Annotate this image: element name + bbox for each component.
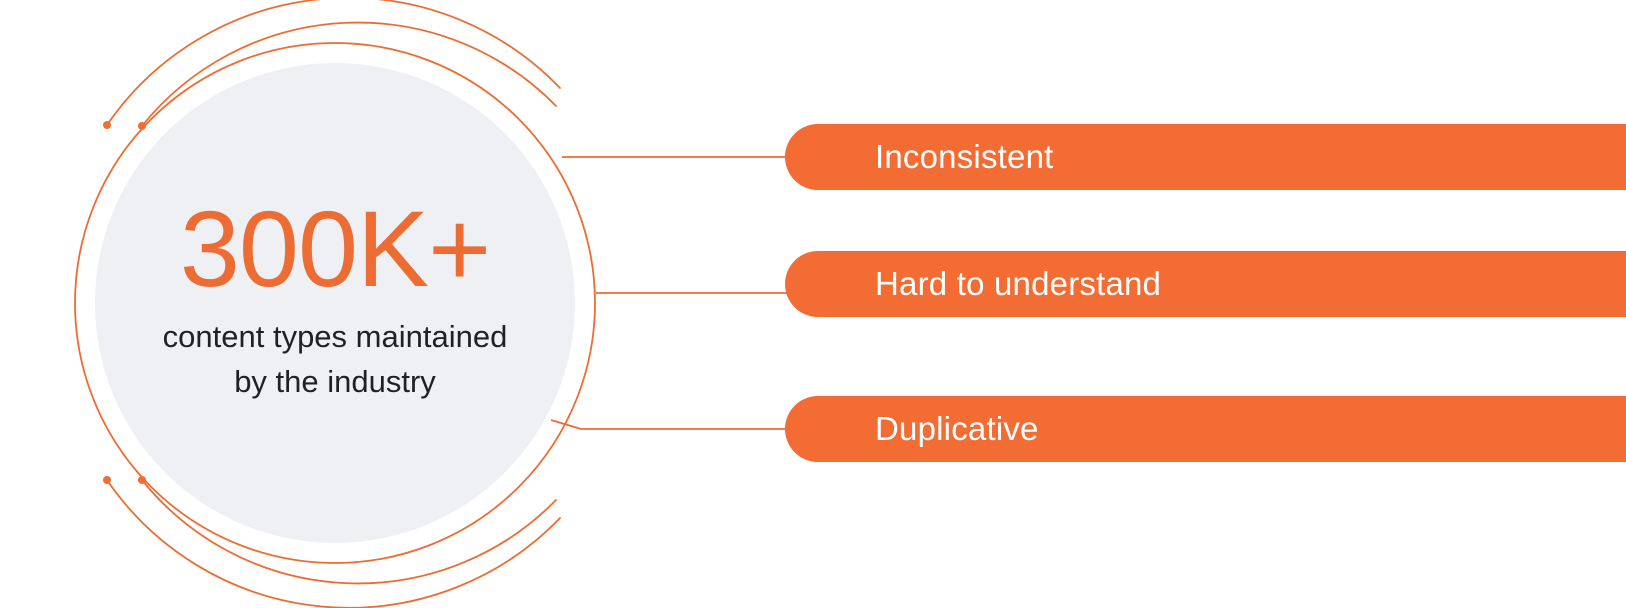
arc-bottom-outer-endpoint-dot — [103, 476, 111, 484]
issue-bar-inconsistent[interactable]: Inconsistent — [785, 124, 1626, 190]
issue-bar-duplicative[interactable]: Duplicative — [785, 396, 1626, 462]
infographic-canvas: 300K+ content types maintained by the in… — [0, 0, 1626, 608]
issue-bar-label: Duplicative — [875, 410, 1039, 448]
issue-bar-label: Inconsistent — [875, 138, 1054, 176]
stat-circle: 300K+ content types maintained by the in… — [95, 63, 575, 543]
issue-bar-hard-to-understand[interactable]: Hard to understand — [785, 251, 1626, 317]
connector-line-duplicative — [551, 420, 790, 429]
stat-caption: content types maintained by the industry — [163, 315, 508, 405]
issue-bar-label: Hard to understand — [875, 265, 1161, 303]
arc-top-outer-endpoint-dot — [103, 121, 111, 129]
arc-top-inner-endpoint-dot — [138, 122, 146, 130]
stat-value: 300K+ — [180, 195, 490, 303]
stat-caption-line-2: by the industry — [163, 360, 508, 405]
arc-bottom-inner-endpoint-dot — [138, 476, 146, 484]
issue-bars-list: Inconsistent Hard to understand Duplicat… — [785, 0, 1626, 608]
stat-caption-line-1: content types maintained — [163, 315, 508, 360]
